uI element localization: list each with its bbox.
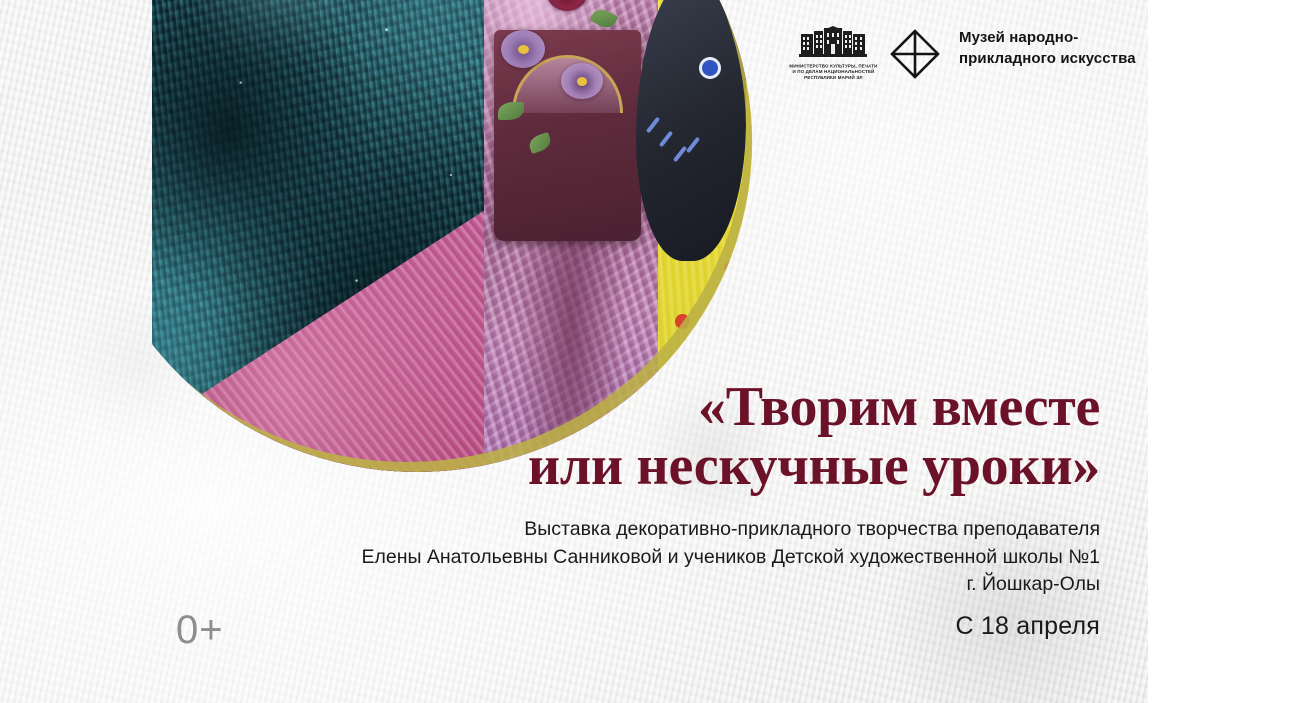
ministry-lockup: МИНИСТЕРСТВО КУЛЬТУРЫ, ПЕЧАТИ И ПО ДЕЛАМ…	[795, 26, 871, 76]
folk-flower	[675, 314, 690, 329]
folk-bird-wing-dash	[646, 116, 660, 133]
folk-bird-wing-dash	[659, 131, 673, 148]
poster: МИНИСТЕРСТВО КУЛЬТУРЫ, ПЕЧАТИ И ПО ДЕЛАМ…	[0, 0, 1300, 703]
ministry-caption: МИНИСТЕРСТВО КУЛЬТУРЫ, ПЕЧАТИ И ПО ДЕЛАМ…	[789, 63, 877, 81]
pansy-flower	[547, 0, 587, 11]
exhibition-subtitle: Выставка декоративно-прикладного творчес…	[280, 516, 1100, 599]
museum-name: Музей народно- прикладного искусства	[959, 27, 1136, 70]
folk-bird-wing-dash	[686, 137, 700, 154]
museum-header-lockup: МИНИСТЕРСТВО КУЛЬТУРЫ, ПЕЧАТИ И ПО ДЕЛАМ…	[795, 26, 1136, 80]
pansy-flower	[561, 63, 603, 99]
folk-bird-figure	[636, 0, 747, 261]
government-building-icon	[799, 26, 867, 60]
diamond-cross-icon	[889, 28, 941, 80]
pansy-leaf	[589, 5, 618, 32]
folk-flower	[724, 261, 737, 274]
pansy-flower	[501, 30, 545, 68]
folk-bird-wing-dash	[673, 145, 687, 162]
exhibition-date: С 18 апреля	[956, 612, 1101, 641]
age-rating-badge: 0+	[176, 608, 224, 653]
exhibition-title: «Творим вместе или нескучные уроки»	[400, 378, 1100, 497]
folk-bird-eye	[702, 60, 718, 76]
